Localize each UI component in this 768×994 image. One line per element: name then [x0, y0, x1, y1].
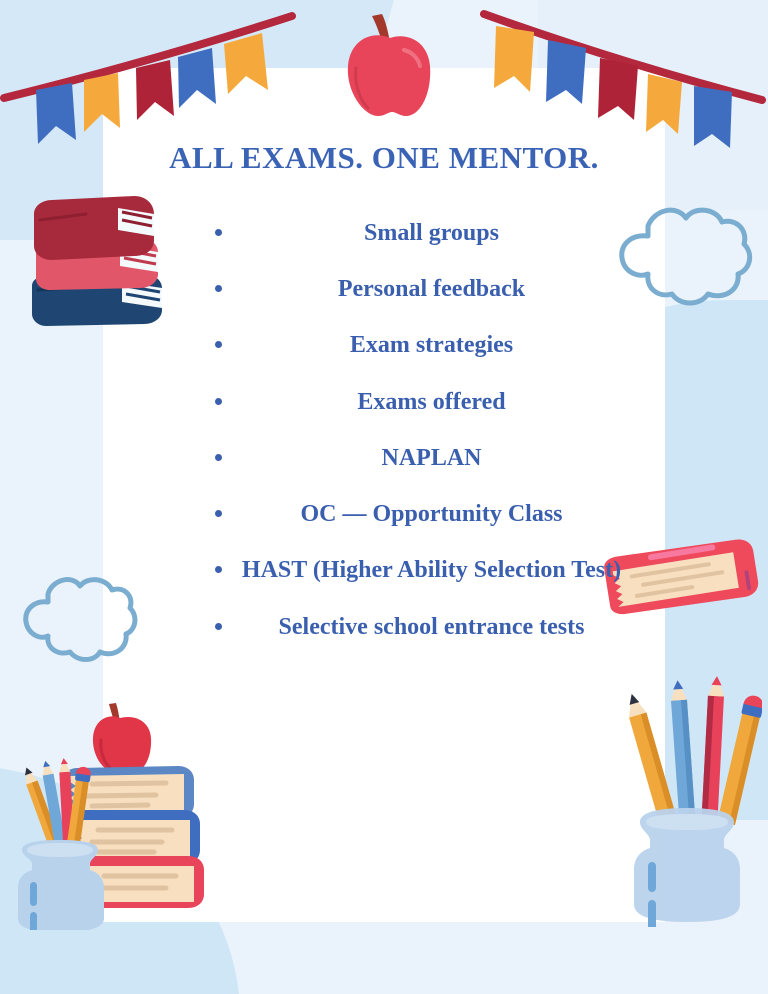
bullet-dot-icon	[215, 229, 222, 236]
bullet-dot-icon	[215, 454, 222, 461]
bullet-dot-icon	[215, 341, 222, 348]
list-item-label: Personal feedback	[222, 274, 635, 304]
list-item-label: Exam strategies	[222, 330, 635, 360]
poster-canvas: ALL EXAMS. ONE MENTOR. Small groups Pers…	[0, 0, 768, 994]
list-item: NAPLAN	[215, 443, 635, 473]
list-item: Small groups	[215, 218, 635, 248]
list-item: Exam strategies	[215, 330, 635, 360]
list-item: Exams offered	[215, 387, 635, 417]
list-item: Personal feedback	[215, 274, 635, 304]
bullet-dot-icon	[215, 285, 222, 292]
page-title: ALL EXAMS. ONE MENTOR.	[103, 140, 665, 176]
list-item-label: HAST (Higher Ability Selection Test)	[222, 555, 635, 585]
poster-content: ALL EXAMS. ONE MENTOR. Small groups Pers…	[103, 68, 665, 922]
bullet-dot-icon	[215, 398, 222, 405]
list-item: Selective school entrance tests	[215, 612, 635, 642]
bullet-dot-icon	[215, 623, 222, 630]
list-item: HAST (Higher Ability Selection Test)	[215, 555, 635, 585]
list-item-label: Selective school entrance tests	[222, 612, 635, 642]
list-item-label: Exams offered	[222, 387, 635, 417]
bullet-dot-icon	[215, 510, 222, 517]
list-item-label: Small groups	[222, 218, 635, 248]
list-item-label: OC — Opportunity Class	[222, 499, 635, 529]
list-item-label: NAPLAN	[222, 443, 635, 473]
bullet-dot-icon	[215, 566, 222, 573]
list-item: OC — Opportunity Class	[215, 499, 635, 529]
features-list: Small groups Personal feedback Exam stra…	[215, 218, 635, 668]
